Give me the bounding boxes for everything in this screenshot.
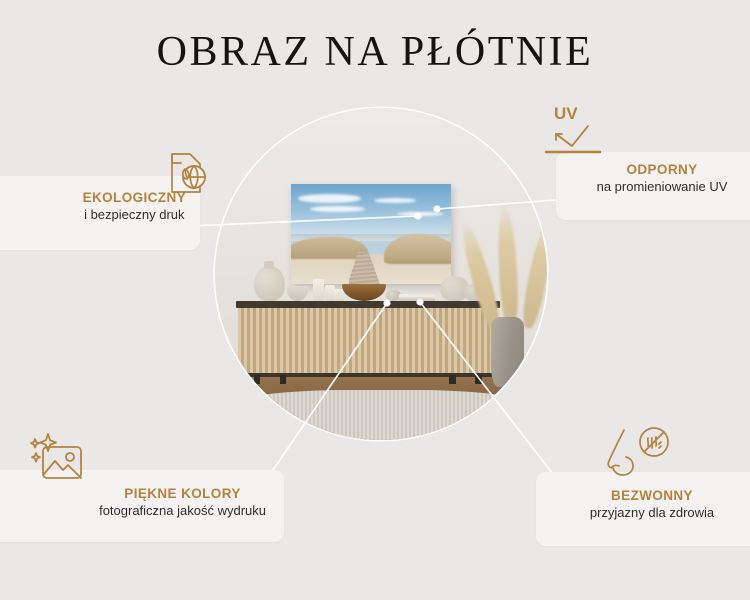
uv-icon-label: UV (554, 104, 606, 124)
sideboard-leg (449, 375, 455, 383)
room-scene (215, 108, 547, 440)
decor-candle (313, 279, 323, 301)
sideboard-leg (254, 375, 260, 383)
sideboard (238, 301, 497, 384)
photo-sparkle-icon (26, 430, 90, 493)
room-rug (215, 390, 547, 440)
canvas-print-artwork (291, 184, 450, 284)
uv-ray-reflect-icon: UV (544, 104, 606, 165)
nose-no-smell-icon (602, 424, 674, 489)
sideboard-fluted-doors (238, 308, 497, 374)
artwork-dune-grass-left (291, 237, 368, 259)
feature-colors-heading: PIĘKNE KOLORY (99, 486, 266, 503)
sideboard-leg (280, 375, 286, 383)
feature-odor-subtext: przyjazny dla zdrowia (546, 505, 750, 522)
infographic-stage: OBRAZ NA PŁÓTNIE (0, 0, 750, 600)
page-title: OBRAZ NA PŁÓTNIE (0, 28, 750, 76)
sideboard-top (236, 301, 500, 308)
feature-odor-heading: BEZWONNY (546, 488, 750, 505)
feature-colors-subtext: fotograficzna jakość wydruku (99, 503, 266, 520)
feature-uv-subtext: na promieniowanie UV (572, 179, 750, 196)
decor-vase-neck (264, 261, 274, 269)
decor-round-vase (254, 266, 285, 301)
decor-books (399, 294, 435, 301)
product-photo-circle (215, 108, 547, 440)
sideboard-base (238, 373, 497, 377)
document-leaf-globe-icon (158, 146, 214, 207)
feature-eco-subtext: i bezpieczny druk (83, 207, 186, 224)
floor-vase (491, 317, 524, 387)
sideboard-leg (475, 375, 481, 383)
